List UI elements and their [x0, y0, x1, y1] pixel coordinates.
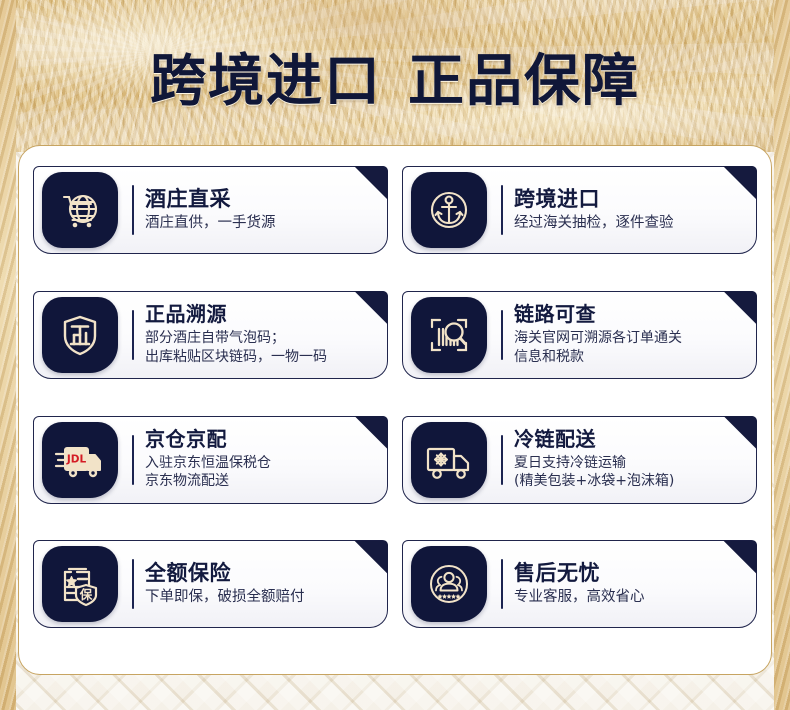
feature-card-cold-chain-delivery[interactable]: 冷链配送 夏日支持冷链运输 (精美包装+冰袋+泡沫箱): [402, 416, 757, 504]
card-description: 专业客服，高效省心: [514, 588, 645, 607]
card-description-line1: 部分酒庄自带气泡码；: [145, 329, 327, 348]
card-title: 酒庄直采: [145, 187, 276, 212]
card-divider: [501, 185, 503, 235]
icon-tile: [42, 172, 118, 248]
folded-corner: [354, 166, 388, 200]
barcode-scan-icon: [425, 311, 473, 359]
folded-corner: [723, 291, 757, 325]
page-title-part1: 跨境进口: [150, 49, 382, 114]
card-title: 跨境进口: [514, 187, 674, 212]
card-title: 正品溯源: [145, 303, 327, 327]
insurance-bao-text: 保: [79, 587, 93, 602]
card-divider: [132, 435, 134, 485]
feature-card-jd-warehouse-delivery[interactable]: JDL 京仓京配 入驻京东恒温保税仓 京东物流配送: [33, 416, 388, 504]
card-description-line2: 京东物流配送: [145, 472, 271, 491]
card-text: 全额保险 下单即保，破损全额赔付: [145, 561, 339, 607]
jdl-logo-text: JDL: [66, 453, 87, 465]
feature-card-after-sales[interactable]: 售后无忧 专业客服，高效省心: [402, 540, 757, 628]
icon-tile: [411, 422, 487, 498]
card-text: 链路可查 海关官网可溯源各订单通关 信息和税款: [514, 303, 716, 366]
customer-service-people-icon: [425, 560, 473, 608]
card-description: 入驻京东恒温保税仓 京东物流配送: [145, 454, 271, 492]
feature-card-authenticity-trace[interactable]: 正品溯源 部分酒庄自带气泡码； 出库粘贴区块链码，一物一码: [33, 291, 388, 379]
insurance-certificate-icon: 保: [56, 560, 104, 608]
feature-card-grid: 酒庄直采 酒庄直供，一手货源: [19, 146, 771, 674]
page-title-part2: 正品保障: [408, 49, 640, 114]
feature-panel: 酒庄直采 酒庄直供，一手货源: [18, 145, 772, 675]
card-description-line1: 专业客服，高效省心: [514, 589, 645, 605]
anchor-circle-icon: [425, 186, 473, 234]
folded-corner: [723, 540, 757, 574]
card-divider: [132, 310, 134, 360]
card-title: 京仓京配: [145, 428, 271, 452]
icon-tile: [411, 546, 487, 622]
card-description-line1: 经过海关抽检，逐件查验: [514, 215, 674, 231]
card-text: 酒庄直采 酒庄直供，一手货源: [145, 187, 310, 233]
card-divider: [501, 559, 503, 609]
folded-corner: [723, 416, 757, 450]
feature-card-cross-border-import[interactable]: 跨境进口 经过海关抽检，逐件查验: [402, 166, 757, 254]
card-divider: [501, 310, 503, 360]
card-description: 部分酒庄自带气泡码； 出库粘贴区块链码，一物一码: [145, 329, 327, 367]
page-title: 跨境进口正品保障: [0, 36, 790, 117]
card-text: 京仓京配 入驻京东恒温保税仓 京东物流配送: [145, 428, 305, 491]
icon-tile: [42, 297, 118, 373]
card-description: 酒庄直供，一手货源: [145, 214, 276, 233]
icon-tile: JDL: [42, 422, 118, 498]
card-description-line1: 下单即保，破损全额赔付: [145, 589, 305, 605]
card-description: 经过海关抽检，逐件查验: [514, 214, 674, 233]
card-text: 跨境进口 经过海关抽检，逐件查验: [514, 187, 708, 233]
card-description-line1: 入驻京东恒温保税仓: [145, 454, 271, 473]
card-description-line2: 出库粘贴区块链码，一物一码: [145, 348, 327, 367]
feature-card-full-insurance[interactable]: 保 全额保险 下单即保，破损全额赔付: [33, 540, 388, 628]
card-description: 下单即保，破损全额赔付: [145, 588, 305, 607]
icon-tile: [411, 172, 487, 248]
card-title: 全额保险: [145, 561, 305, 586]
card-divider: [132, 185, 134, 235]
feature-card-winery-direct[interactable]: 酒庄直采 酒庄直供，一手货源: [33, 166, 388, 254]
card-text: 冷链配送 夏日支持冷链运输 (精美包装+冰袋+泡沫箱): [514, 428, 708, 491]
card-description-line1: 夏日支持冷链运输: [514, 454, 674, 473]
card-text: 售后无忧 专业客服，高效省心: [514, 561, 679, 607]
card-description-line1: 海关官网可溯源各订单通关: [514, 329, 682, 348]
card-title: 冷链配送: [514, 428, 674, 452]
folded-corner: [354, 416, 388, 450]
folded-corner: [723, 166, 757, 200]
folded-corner: [354, 540, 388, 574]
card-description: 海关官网可溯源各订单通关 信息和税款: [514, 329, 682, 367]
card-text: 正品溯源 部分酒庄自带气泡码； 出库粘贴区块链码，一物一码: [145, 303, 361, 366]
jdl-truck-icon: JDL: [54, 437, 106, 483]
card-divider: [501, 435, 503, 485]
shield-zheng-icon: [56, 311, 104, 359]
globe-cart-icon: [56, 186, 104, 234]
cold-chain-truck-icon: [423, 437, 475, 483]
card-title: 链路可查: [514, 303, 682, 327]
card-description-line1: 酒庄直供，一手货源: [145, 215, 276, 231]
card-description: 夏日支持冷链运输 (精美包装+冰袋+泡沫箱): [514, 454, 674, 492]
card-title: 售后无忧: [514, 561, 645, 586]
feature-card-chain-traceable[interactable]: 链路可查 海关官网可溯源各订单通关 信息和税款: [402, 291, 757, 379]
icon-tile: [411, 297, 487, 373]
card-description-line2: (精美包装+冰袋+泡沫箱): [514, 472, 674, 491]
card-description-line2: 信息和税款: [514, 348, 682, 367]
card-divider: [132, 559, 134, 609]
icon-tile: 保: [42, 546, 118, 622]
